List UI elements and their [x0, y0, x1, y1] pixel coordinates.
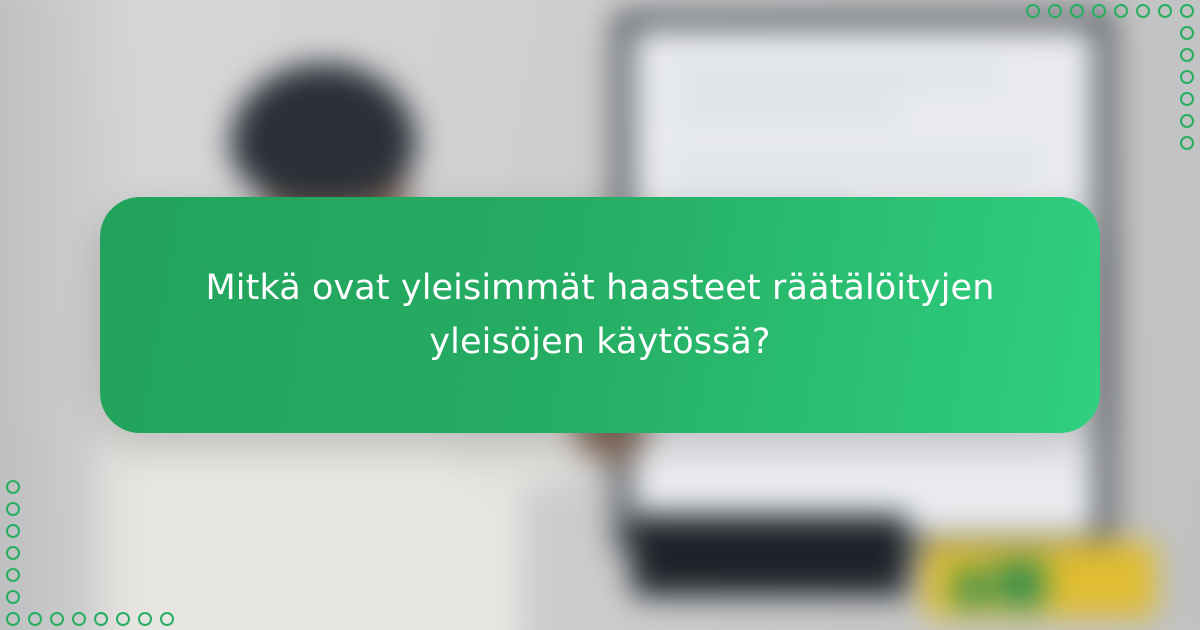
question-text: Mitkä ovat yleisimmät haasteet räätälöit… — [205, 261, 995, 370]
decor-dot — [50, 612, 64, 626]
decor-dot — [1180, 136, 1194, 150]
decor-dot — [1070, 4, 1084, 18]
decor-dot — [1180, 48, 1194, 62]
yellow-accent-block — [924, 542, 1156, 618]
decor-dot — [160, 612, 174, 626]
whiteboard-line — [675, 157, 1042, 166]
decor-dot — [1136, 4, 1150, 18]
decor-dot — [72, 612, 86, 626]
decor-dot — [1180, 4, 1194, 18]
decor-dot — [1158, 4, 1172, 18]
decor-dot — [6, 524, 20, 538]
decor-dot — [6, 480, 20, 494]
share-card-canvas: Mitkä ovat yleisimmät haasteet räätälöit… — [0, 0, 1200, 630]
decor-dot — [6, 568, 20, 582]
decor-dot — [6, 590, 20, 604]
decor-dot — [1180, 92, 1194, 106]
decor-dot — [138, 612, 152, 626]
decor-dot — [6, 612, 20, 626]
yellow-accent-shape — [995, 561, 1045, 606]
decorative-dots-right-column — [1180, 26, 1194, 150]
decor-dot — [1092, 4, 1106, 18]
decor-dot — [1114, 4, 1128, 18]
decorative-dots-bottom-left — [6, 612, 174, 626]
decorative-dots-top-right — [1026, 4, 1194, 18]
decor-dot — [1026, 4, 1040, 18]
decor-dot — [1180, 70, 1194, 84]
screen-panel — [632, 515, 907, 596]
decorative-dots-left-column — [6, 480, 20, 604]
decor-dot — [116, 612, 130, 626]
whiteboard-line — [675, 71, 999, 82]
decor-dot — [1180, 114, 1194, 128]
decor-dot — [6, 502, 20, 516]
whiteboard-line — [675, 105, 902, 116]
question-card: Mitkä ovat yleisimmät haasteet räätälöit… — [100, 197, 1100, 433]
decor-dot — [1180, 26, 1194, 40]
decor-dot — [6, 546, 20, 560]
decor-dot — [1048, 4, 1062, 18]
yellow-accent-shape — [954, 570, 986, 607]
decor-dot — [94, 612, 108, 626]
decor-dot — [28, 612, 42, 626]
